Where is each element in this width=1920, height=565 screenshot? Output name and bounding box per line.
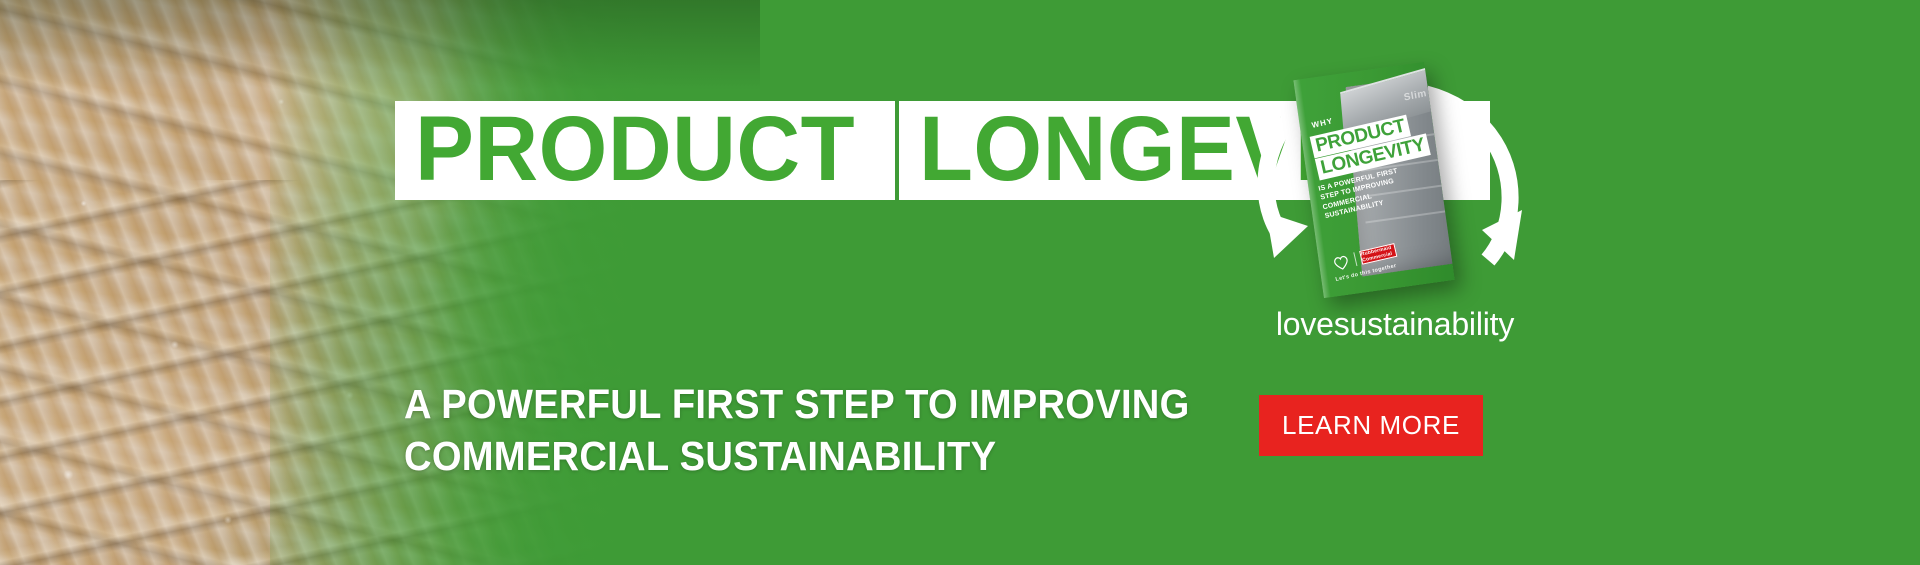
- logo-divider: [1353, 252, 1357, 266]
- photo-top-shadow: [0, 0, 760, 90]
- subtitle-line1: A POWERFUL FIRST STEP TO IMPROVING: [404, 378, 1190, 430]
- subtitle-line2: COMMERCIAL SUSTAINABILITY: [404, 430, 1190, 482]
- headline-line1-box: PRODUCT: [395, 101, 895, 200]
- bin-rib: [1365, 209, 1454, 224]
- heart-icon: [1330, 252, 1352, 274]
- learn-more-button[interactable]: LEARN MORE: [1259, 395, 1483, 456]
- brochure-why-label: WHY: [1311, 116, 1334, 130]
- promotional-banner: PRODUCT LONGEVITY A POWERFUL FIRST STEP …: [0, 0, 1920, 565]
- lovesustainability-caption: lovesustainability: [1230, 306, 1560, 343]
- subtitle-block: A POWERFUL FIRST STEP TO IMPROVING COMME…: [404, 378, 1190, 483]
- promo-column: Slim Jim WHY PRODUCT LONGEVITY IS A POWE…: [1230, 60, 1560, 510]
- headline-line1: PRODUCT: [415, 107, 859, 192]
